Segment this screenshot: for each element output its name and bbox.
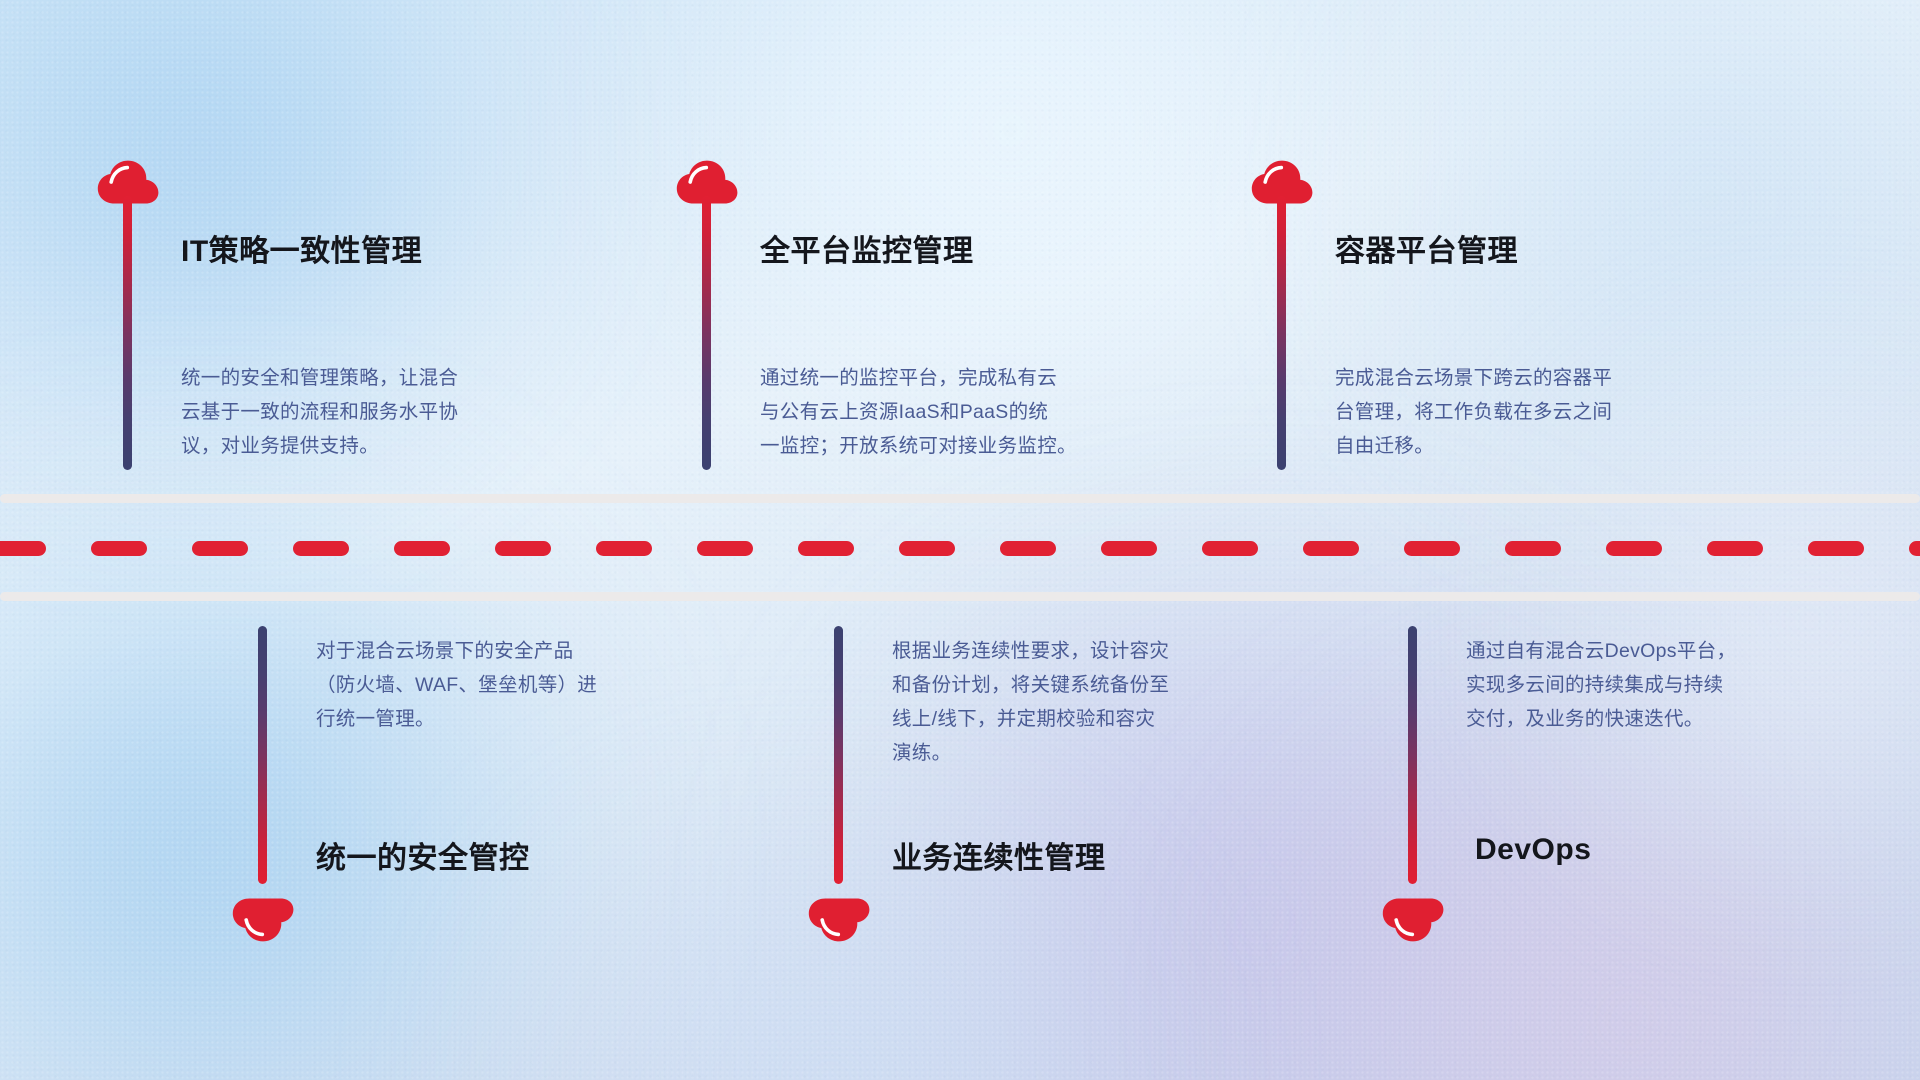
road-dash [899, 541, 955, 556]
road-dash [1606, 541, 1662, 556]
bottom-column-3-title: DevOps [1475, 833, 1591, 867]
body-line: 一监控；开放系统可对接业务监控。 [760, 429, 1200, 463]
road-dash [1808, 541, 1864, 556]
road-dash [1404, 541, 1460, 556]
connector-stem [1408, 626, 1417, 884]
bottom-column-3-body: 通过自有混合云DevOps平台， 实现多云间的持续集成与持续 交付，及业务的快速… [1466, 634, 1896, 736]
road-dash [293, 541, 349, 556]
road-dash [697, 541, 753, 556]
body-line: 通过统一的监控平台，完成私有云 [760, 361, 1200, 395]
body-line: 演练。 [892, 736, 1332, 770]
body-line: 行统一管理。 [316, 702, 746, 736]
body-line: 和备份计划，将关键系统备份至 [892, 668, 1332, 702]
road-line-upper [0, 494, 1920, 503]
road-dash [495, 541, 551, 556]
connector-stem [258, 626, 267, 884]
road-line-lower [0, 592, 1920, 601]
cloud-icon [232, 898, 294, 942]
top-column-3-title: 容器平台管理 [1335, 226, 1518, 270]
road-dash [596, 541, 652, 556]
top-column-1-title: IT策略一致性管理 [181, 226, 422, 270]
bottom-column-2-body: 根据业务连续性要求，设计容灾 和备份计划，将关键系统备份至 线上/线下，并定期校… [892, 634, 1332, 770]
road-dash [798, 541, 854, 556]
top-column-2-body: 通过统一的监控平台，完成私有云 与公有云上资源IaaS和PaaS的统 一监控；开… [760, 361, 1200, 463]
cloud-icon [1382, 898, 1444, 942]
body-line: 根据业务连续性要求，设计容灾 [892, 634, 1332, 668]
connector-stem [834, 626, 843, 884]
connector-stem [123, 196, 132, 470]
connector-stem [702, 196, 711, 470]
body-line: 台管理，将工作负载在多云之间 [1335, 395, 1765, 429]
cloud-icon [808, 898, 870, 942]
body-line: 议，对业务提供支持。 [181, 429, 611, 463]
infographic-canvas: IT策略一致性管理 统一的安全和管理策略，让混合 云基于一致的流程和服务水平协 … [0, 0, 1920, 1080]
bottom-column-1-body: 对于混合云场景下的安全产品 （防火墙、WAF、堡垒机等）进 行统一管理。 [316, 634, 746, 736]
road-dash [1505, 541, 1561, 556]
body-line: （防火墙、WAF、堡垒机等）进 [316, 668, 746, 702]
road-dash [192, 541, 248, 556]
road-dash [0, 541, 46, 556]
bottom-column-1-title: 统一的安全管控 [316, 833, 530, 877]
road-dash [394, 541, 450, 556]
connector-stem [1277, 196, 1286, 470]
body-line: 线上/线下，并定期校验和容灾 [892, 702, 1332, 736]
body-line: 完成混合云场景下跨云的容器平 [1335, 361, 1765, 395]
body-line: 统一的安全和管理策略，让混合 [181, 361, 611, 395]
top-column-3-body: 完成混合云场景下跨云的容器平 台管理，将工作负载在多云之间 自由迁移。 [1335, 361, 1765, 463]
road-dash-strip [0, 541, 1920, 556]
road-dash [1909, 541, 1920, 556]
road-dash [1303, 541, 1359, 556]
top-column-2-title: 全平台监控管理 [760, 226, 974, 270]
body-line: 交付，及业务的快速迭代。 [1466, 702, 1896, 736]
body-line: 实现多云间的持续集成与持续 [1466, 668, 1896, 702]
top-column-1-body: 统一的安全和管理策略，让混合 云基于一致的流程和服务水平协 议，对业务提供支持。 [181, 361, 611, 463]
body-line: 云基于一致的流程和服务水平协 [181, 395, 611, 429]
road-dash [1000, 541, 1056, 556]
body-line: 对于混合云场景下的安全产品 [316, 634, 746, 668]
road-dash [91, 541, 147, 556]
road-dash [1707, 541, 1763, 556]
body-line: 通过自有混合云DevOps平台， [1466, 634, 1896, 668]
bottom-column-2-title: 业务连续性管理 [892, 833, 1106, 877]
body-line: 自由迁移。 [1335, 429, 1765, 463]
body-line: 与公有云上资源IaaS和PaaS的统 [760, 395, 1200, 429]
road-dash [1202, 541, 1258, 556]
road-dash [1101, 541, 1157, 556]
